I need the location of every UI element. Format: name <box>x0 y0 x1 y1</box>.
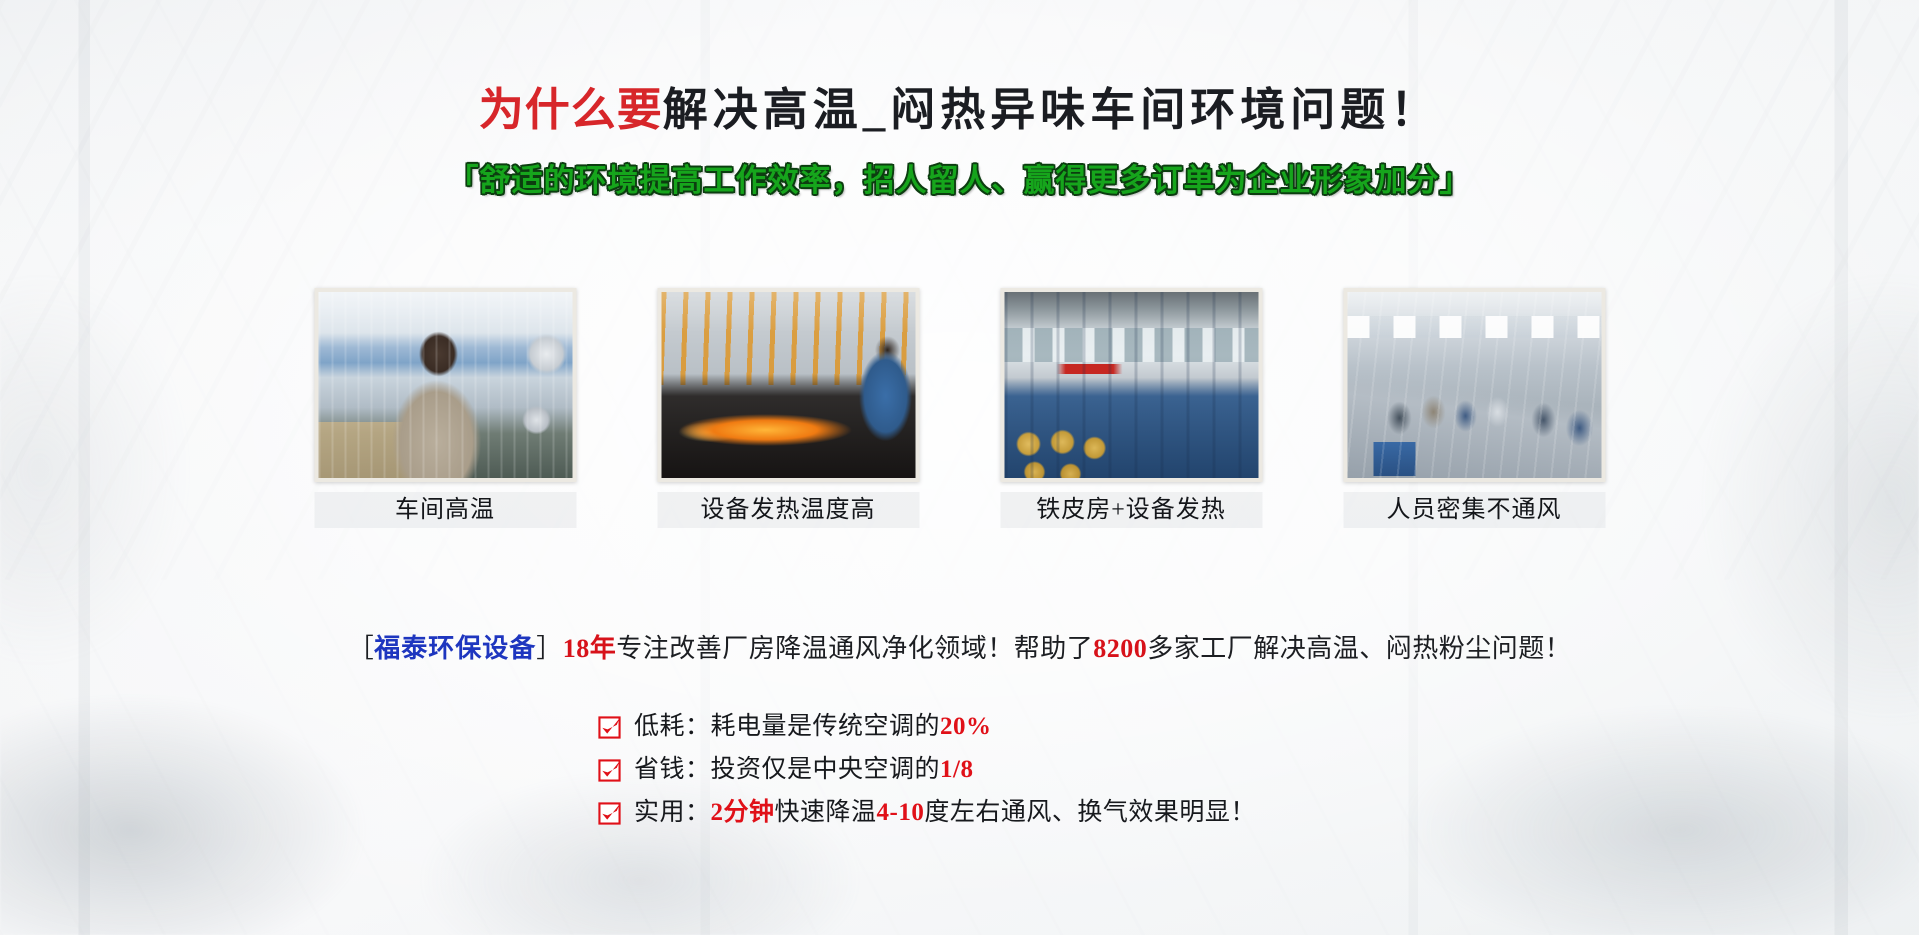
tagline: ［福泰环保设备］18年专注改善厂房降温通风净化领域！帮助了8200多家工厂解决高… <box>0 636 1919 662</box>
tagline-middle: 专注改善厂房降温通风净化领域！帮助了 <box>616 634 1093 663</box>
tagline-count: 8200 <box>1093 634 1147 663</box>
steel-shed-workshop-photo <box>1004 292 1258 478</box>
headline-rest: 解决高温_闷热异味车间环境问题！ <box>663 85 1441 135</box>
benefit-item-3: 实用：2分钟快速降温4-10度左右通风、换气效果明显！ <box>598 798 1256 828</box>
red-checkbox-icon <box>598 716 621 739</box>
headline-highlight: 为什么要 <box>479 85 663 135</box>
photo-frame-4 <box>1343 288 1605 482</box>
photo-card-1: 车间高温 <box>314 288 576 528</box>
benefit-label-3: 实用： <box>634 798 711 828</box>
photo-card-3: 铁皮房+设备发热 <box>1000 288 1262 528</box>
textile-workshop-photo <box>318 292 572 478</box>
photo-frame-3 <box>1000 288 1262 482</box>
photo-card-2: 设备发热温度高 <box>657 288 919 528</box>
photo-frame-1 <box>314 288 576 482</box>
benefit-value-3b: 4-10 <box>877 798 925 828</box>
tagline-tail: 多家工厂解决高温、闷热粉尘问题！ <box>1147 634 1571 663</box>
benefit-item-1: 低耗：耗电量是传统空调的20% <box>598 712 1256 742</box>
subheadline: 「舒适的环境提高工作效率，招人留人、赢得更多订单为企业形象加分」 <box>0 155 1919 200</box>
benefit-list: 低耗：耗电量是传统空调的20% 省钱：投资仅是中央空调的1/8 实用：2分钟快速… <box>598 712 1256 828</box>
photo-caption-4: 人员密集不通风 <box>1343 492 1605 528</box>
tagline-bracket-open: ［ <box>348 634 375 663</box>
forging-machine-photo <box>661 292 915 478</box>
red-checkbox-icon <box>598 802 621 825</box>
promo-banner: 为什么要解决高温_闷热异味车间环境问题！ 「舒适的环境提高工作效率，招人留人、赢… <box>0 0 1919 935</box>
photo-caption-2: 设备发热温度高 <box>657 492 919 528</box>
photo-frame-2 <box>657 288 919 482</box>
photo-card-4: 人员密集不通风 <box>1343 288 1605 528</box>
tagline-bracket-close: ］ <box>536 634 563 663</box>
benefit-value-3a: 2分钟 <box>711 798 775 828</box>
headline: 为什么要解决高温_闷热异味车间环境问题！ <box>0 88 1919 133</box>
tagline-brand: 福泰环保设备 <box>374 634 536 663</box>
red-checkbox-icon <box>598 759 621 782</box>
assembly-line-photo <box>1347 292 1601 478</box>
benefit-label-1: 低耗：耗电量是传统空调的 <box>634 712 940 742</box>
benefit-mid-3: 快速降温 <box>775 798 877 828</box>
benefit-suffix-3: 度左右通风、换气效果明显！ <box>924 798 1256 828</box>
photo-caption-3: 铁皮房+设备发热 <box>1000 492 1262 528</box>
benefit-value-1: 20% <box>940 712 992 742</box>
tagline-years: 18年 <box>563 634 617 663</box>
photo-caption-1: 车间高温 <box>314 492 576 528</box>
benefit-label-2: 省钱：投资仅是中央空调的 <box>634 755 940 785</box>
banner-content: 为什么要解决高温_闷热异味车间环境问题！ 「舒适的环境提高工作效率，招人留人、赢… <box>0 0 1919 935</box>
benefit-value-2: 1/8 <box>940 755 973 785</box>
benefit-item-2: 省钱：投资仅是中央空调的1/8 <box>598 755 1256 785</box>
photo-strip: 车间高温 设备发热温度高 铁皮房+设备发热 人员密集不通风 <box>314 288 1605 528</box>
